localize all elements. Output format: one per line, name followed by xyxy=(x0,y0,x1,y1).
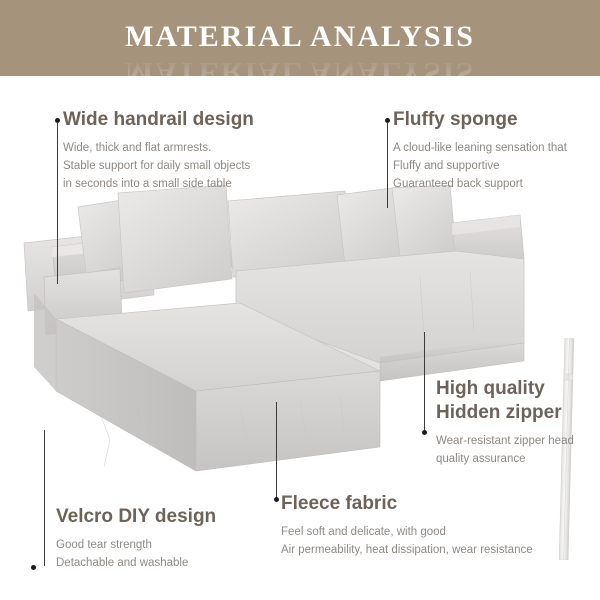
leader-dot-hidden-zipper xyxy=(422,430,427,435)
throw-pillow-center xyxy=(118,185,232,293)
callout-line: Stable support for daily small objects xyxy=(63,157,254,175)
leader-line-fleece xyxy=(276,402,277,498)
callout-title-fluffy-sponge: Fluffy sponge xyxy=(393,108,567,132)
callout-high-quality-hidden-zipper: High quality Hidden zipper Wear-resistan… xyxy=(436,377,574,468)
leader-dot-fleece xyxy=(274,497,279,502)
callout-body-fleece: Feel soft and delicate, with good Air pe… xyxy=(281,523,533,559)
callout-body-velcro: Good tear strength Detachable and washab… xyxy=(56,536,216,572)
callout-line: Guaranteed back support xyxy=(393,175,567,193)
callout-velcro-diy-design: Velcro DIY design Good tear strength Det… xyxy=(56,505,216,572)
page-title: MATERIAL ANALYSIS xyxy=(0,20,600,54)
callout-body-fluffy-sponge: A cloud-like leaning sensation that Fluf… xyxy=(393,139,567,193)
callout-title-hidden-zipper: Hidden zipper xyxy=(436,401,574,425)
callout-line: Wide, thick and flat armrests. xyxy=(63,139,254,157)
callout-body-hidden-zipper: Wear-resistant zipper head quality assur… xyxy=(436,432,574,468)
infographic-page: MATERIAL ANALYSIS MATERIAL ANALYSIS xyxy=(0,0,600,600)
page-title-reflection: MATERIAL ANALYSIS xyxy=(0,55,600,76)
callout-line: Feel soft and delicate, with good xyxy=(281,523,533,541)
callout-title-velcro: Velcro DIY design xyxy=(56,505,216,529)
callout-title-high-quality: High quality xyxy=(436,377,574,401)
header-banner: MATERIAL ANALYSIS MATERIAL ANALYSIS xyxy=(0,0,600,76)
callout-fluffy-sponge: Fluffy sponge A cloud-like leaning sensa… xyxy=(393,108,567,193)
callout-line: Wear-resistant zipper head xyxy=(436,432,574,450)
callout-wide-handrail-design: Wide handrail design Wide, thick and fla… xyxy=(63,108,254,193)
leader-line-fluffy-sponge xyxy=(387,122,388,208)
callout-line: Detachable and washable xyxy=(56,554,216,572)
leader-line-velcro xyxy=(44,430,45,566)
callout-line: Air permeability, heat dissipation, wear… xyxy=(281,541,533,559)
callout-line: Fluffy and supportive xyxy=(393,157,567,175)
leader-dot-velcro xyxy=(31,565,36,570)
callout-title-wide-handrail: Wide handrail design xyxy=(63,108,254,132)
leader-line-wide-handrail xyxy=(57,122,58,284)
callout-fleece-fabric: Fleece fabric Feel soft and delicate, wi… xyxy=(281,492,533,559)
callout-body-wide-handrail: Wide, thick and flat armrests. Stable su… xyxy=(63,139,254,193)
leader-line-hidden-zipper xyxy=(424,332,425,432)
callout-title-fleece: Fleece fabric xyxy=(281,492,533,516)
callout-line: quality assurance xyxy=(436,450,574,468)
callout-line: in seconds into a small side table xyxy=(63,175,254,193)
callout-line: A cloud-like leaning sensation that xyxy=(393,139,567,157)
callout-line: Good tear strength xyxy=(56,536,216,554)
